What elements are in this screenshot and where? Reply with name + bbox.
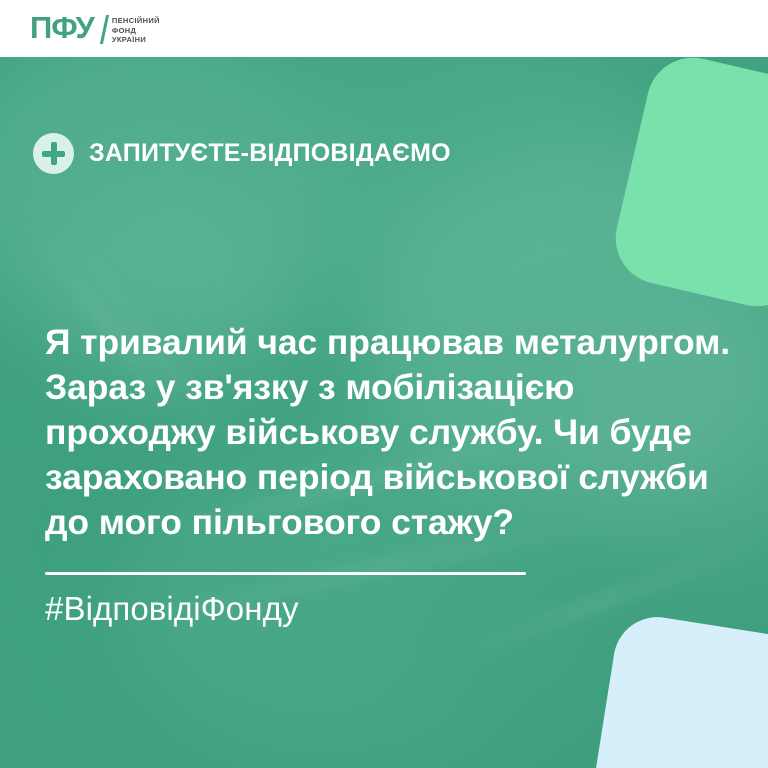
- question-line-3: проходжу військову службу. Чи буде: [45, 410, 745, 455]
- logo-wordmark: ПЕНСІЙНИЙ ФОНД УКРАЇНИ: [112, 16, 160, 45]
- question-line-2: Зараз у зв'язку з мобілізацією: [45, 365, 745, 410]
- header-band: ПФУ ПЕНСІЙНИЙ ФОНД УКРАЇНИ: [0, 0, 768, 57]
- pfu-logo: ПФУ ПЕНСІЙНИЙ ФОНД УКРАЇНИ: [30, 11, 160, 45]
- question-line-4: зараховано період військової служби: [45, 455, 745, 500]
- logo-divider: [100, 15, 109, 44]
- card-content: ЗАПИТУЄТЕ-ВІДПОВІДАЄМО Я тривалий час пр…: [0, 57, 768, 768]
- question-text: Я тривалий час працював металургом. Зара…: [45, 320, 745, 545]
- rubric-badge: ЗАПИТУЄТЕ-ВІДПОВІДАЄМО: [33, 133, 451, 174]
- rubric-label: ЗАПИТУЄТЕ-ВІДПОВІДАЄМО: [89, 139, 451, 168]
- divider-rule: [45, 572, 526, 575]
- hashtag-label: #ВідповідіФонду: [45, 590, 299, 628]
- social-card: ПФУ ПЕНСІЙНИЙ ФОНД УКРАЇНИ ЗАПИТУЄТЕ-ВІД…: [0, 0, 768, 768]
- logo-word-line-2: ФОНД: [112, 26, 160, 36]
- question-line-5: до мого пільгового стажу?: [45, 500, 745, 545]
- logo-mark-text: ПФУ: [30, 11, 94, 45]
- logo-word-line-1: ПЕНСІЙНИЙ: [112, 16, 160, 26]
- plus-icon: [33, 133, 74, 174]
- question-line-1: Я тривалий час працював металургом.: [45, 320, 745, 365]
- logo-word-line-3: УКРАЇНИ: [112, 35, 160, 45]
